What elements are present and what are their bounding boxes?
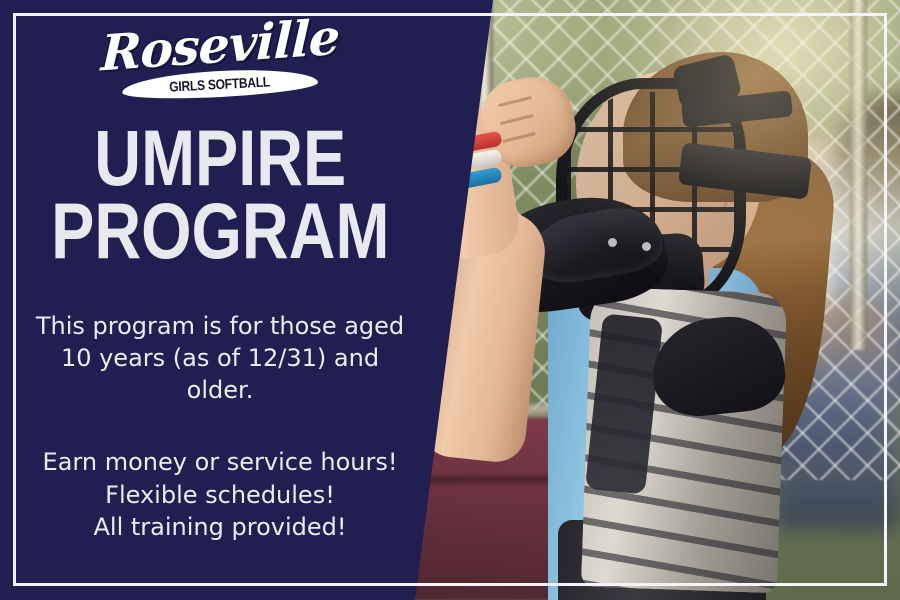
eligibility-text: This program is for those aged 10 years …	[35, 311, 405, 406]
pad-rivet	[642, 242, 651, 251]
headline-line-2: PROGRAM	[51, 195, 389, 268]
benefit-item: Flexible schedules!	[25, 479, 415, 511]
umpire-program-flyer: Roseville GIRLS SOFTBALL UMPIRE PROGRAM …	[0, 0, 900, 600]
headline-line-1: UMPIRE	[51, 122, 389, 195]
roseville-girls-softball-logo: Roseville GIRLS SOFTBALL	[100, 16, 340, 104]
benefits-list: Earn money or service hours! Flexible sc…	[25, 446, 415, 543]
flyer-content: Roseville GIRLS SOFTBALL UMPIRE PROGRAM …	[0, 0, 440, 600]
page-title: UMPIRE PROGRAM	[51, 122, 389, 267]
benefit-item: Earn money or service hours!	[25, 446, 415, 478]
logo-banner-text: GIRLS SOFTBALL	[169, 73, 270, 94]
pad-rivet	[608, 238, 617, 247]
benefit-item: All training provided!	[25, 511, 415, 543]
